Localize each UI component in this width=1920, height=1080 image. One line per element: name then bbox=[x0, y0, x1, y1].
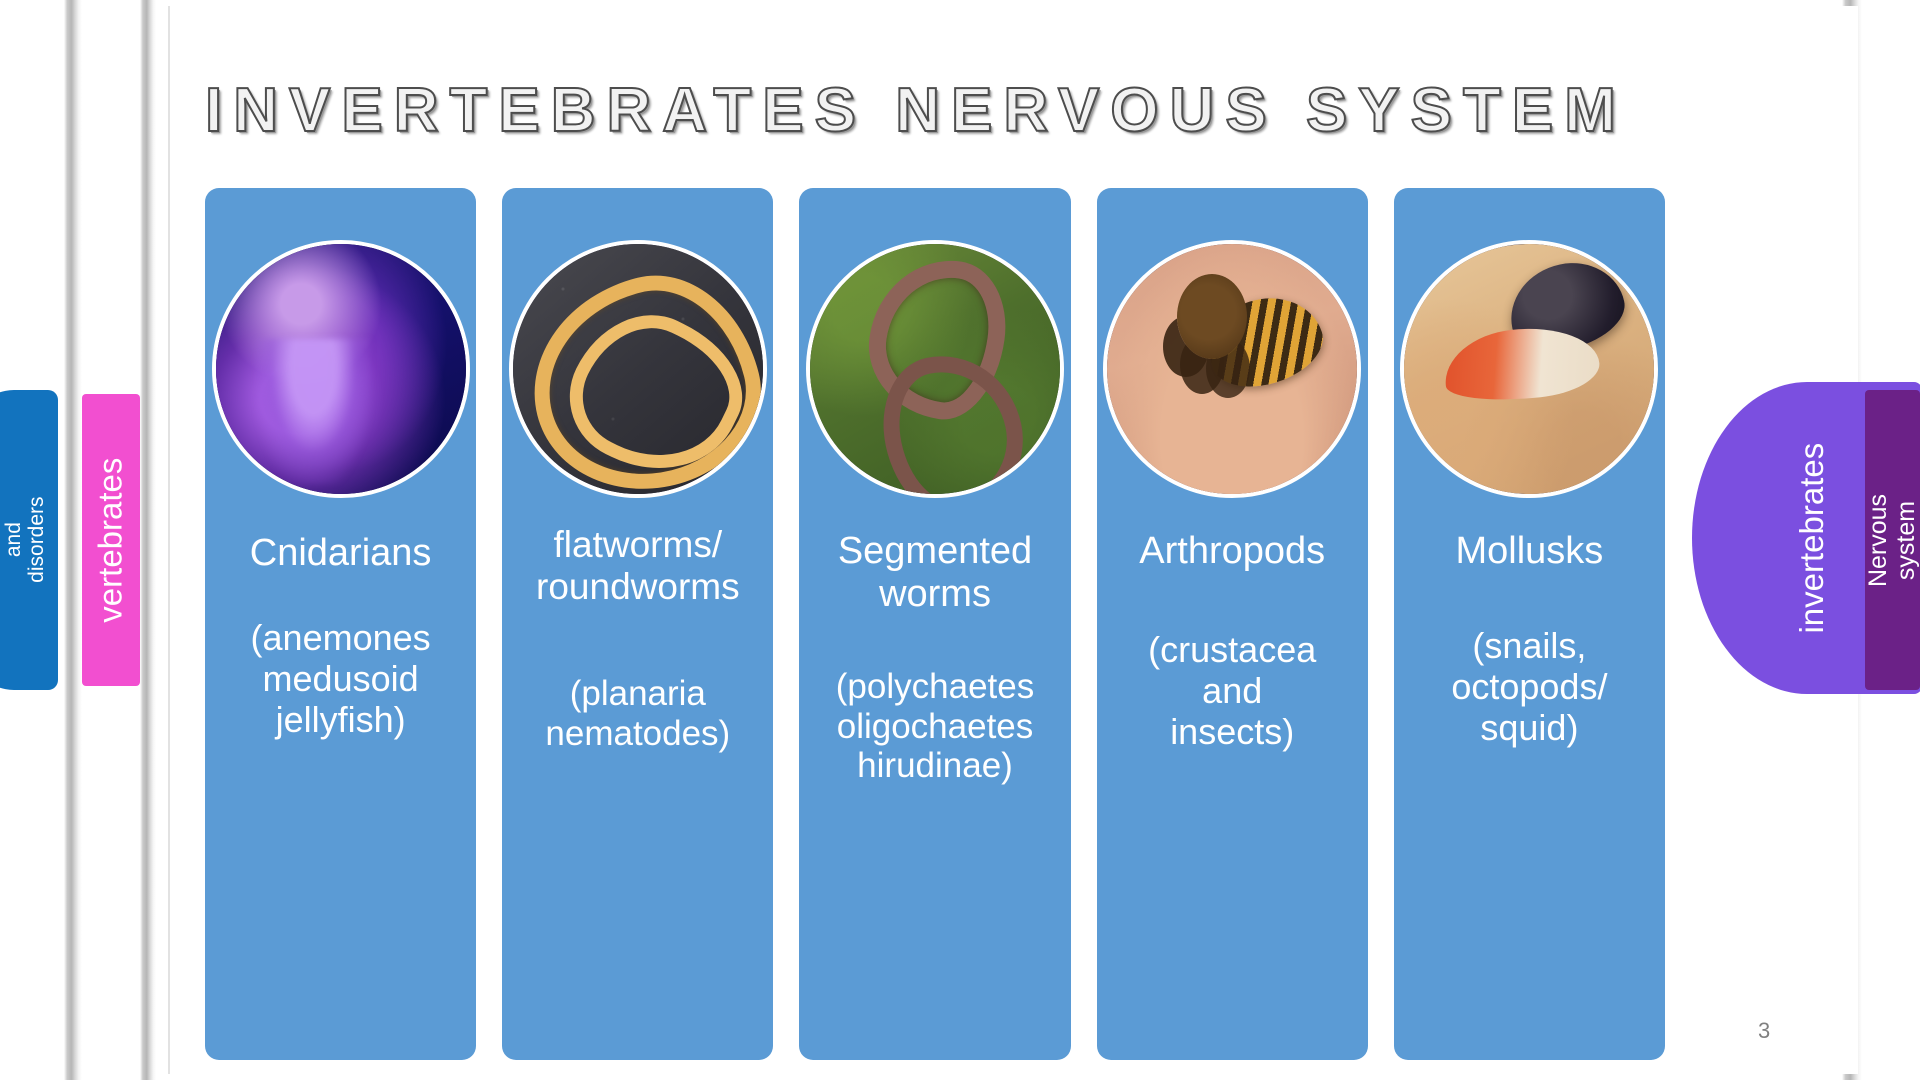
card-segmented-worms[interactable]: Segmented worms (polychaetes oligochaete… bbox=[799, 188, 1070, 1060]
vertical-divider-bar-left-outer bbox=[64, 0, 82, 1080]
card-mollusks[interactable]: Mollusks (snails, octopods/ squid) bbox=[1394, 188, 1665, 1060]
side-tab-label-vertebrates: vertebrates bbox=[93, 457, 129, 622]
card-label-arthropods: Arthropods bbox=[1097, 530, 1368, 573]
card-label-mollusks: Mollusks bbox=[1394, 530, 1665, 573]
side-tab-label-invertebrates: invertebrates bbox=[1794, 443, 1830, 634]
side-tab-nervous-system[interactable]: Nervous system bbox=[1865, 390, 1920, 690]
side-tab-label-nervous-system: Nervous system bbox=[1865, 493, 1920, 586]
card-flatworms-roundworms[interactable]: flatworms/ roundworms (planaria nematode… bbox=[502, 188, 773, 1060]
card-sublabel-flatworms-roundworms: (planaria nematodes) bbox=[502, 674, 773, 754]
jellyfish-photo bbox=[212, 240, 470, 498]
card-label-segmented-worms: Segmented worms bbox=[799, 530, 1070, 617]
vertical-divider-bar-left-inner bbox=[140, 0, 156, 1080]
snail-photo bbox=[1400, 240, 1658, 498]
presentation-slide: INVERTEBRATES NERVOUS SYSTEM Cnidarians … bbox=[0, 0, 1920, 1080]
card-sublabel-segmented-worms: (polychaetes oligochaetes hirudinae) bbox=[799, 667, 1070, 787]
segmented-worm-photo bbox=[806, 240, 1064, 498]
card-cnidarians[interactable]: Cnidarians (anemones medusoid jellyfish) bbox=[205, 188, 476, 1060]
page-number: 3 bbox=[1758, 1018, 1770, 1044]
side-tab-abnormalities-and-disorders[interactable]: Abnormalities and disorders bbox=[0, 390, 58, 690]
card-sublabel-mollusks: (snails, octopods/ squid) bbox=[1394, 625, 1665, 748]
invertebrate-group-cards: Cnidarians (anemones medusoid jellyfish)… bbox=[205, 188, 1665, 1060]
bee-photo bbox=[1103, 240, 1361, 498]
card-sublabel-cnidarians: (anemones medusoid jellyfish) bbox=[205, 617, 476, 740]
page-title: INVERTEBRATES NERVOUS SYSTEM bbox=[205, 75, 1765, 146]
card-label-flatworms-roundworms: flatworms/ roundworms bbox=[502, 524, 773, 608]
roundworms-photo bbox=[509, 240, 767, 498]
card-arthropods[interactable]: Arthropods (crustacea and insects) bbox=[1097, 188, 1368, 1060]
side-tab-label-abnormalities: Abnormalities and disorders bbox=[0, 476, 49, 603]
card-sublabel-arthropods: (crustacea and insects) bbox=[1097, 629, 1368, 752]
side-tab-vertebrates[interactable]: vertebrates bbox=[82, 394, 140, 686]
card-label-cnidarians: Cnidarians bbox=[205, 532, 476, 575]
